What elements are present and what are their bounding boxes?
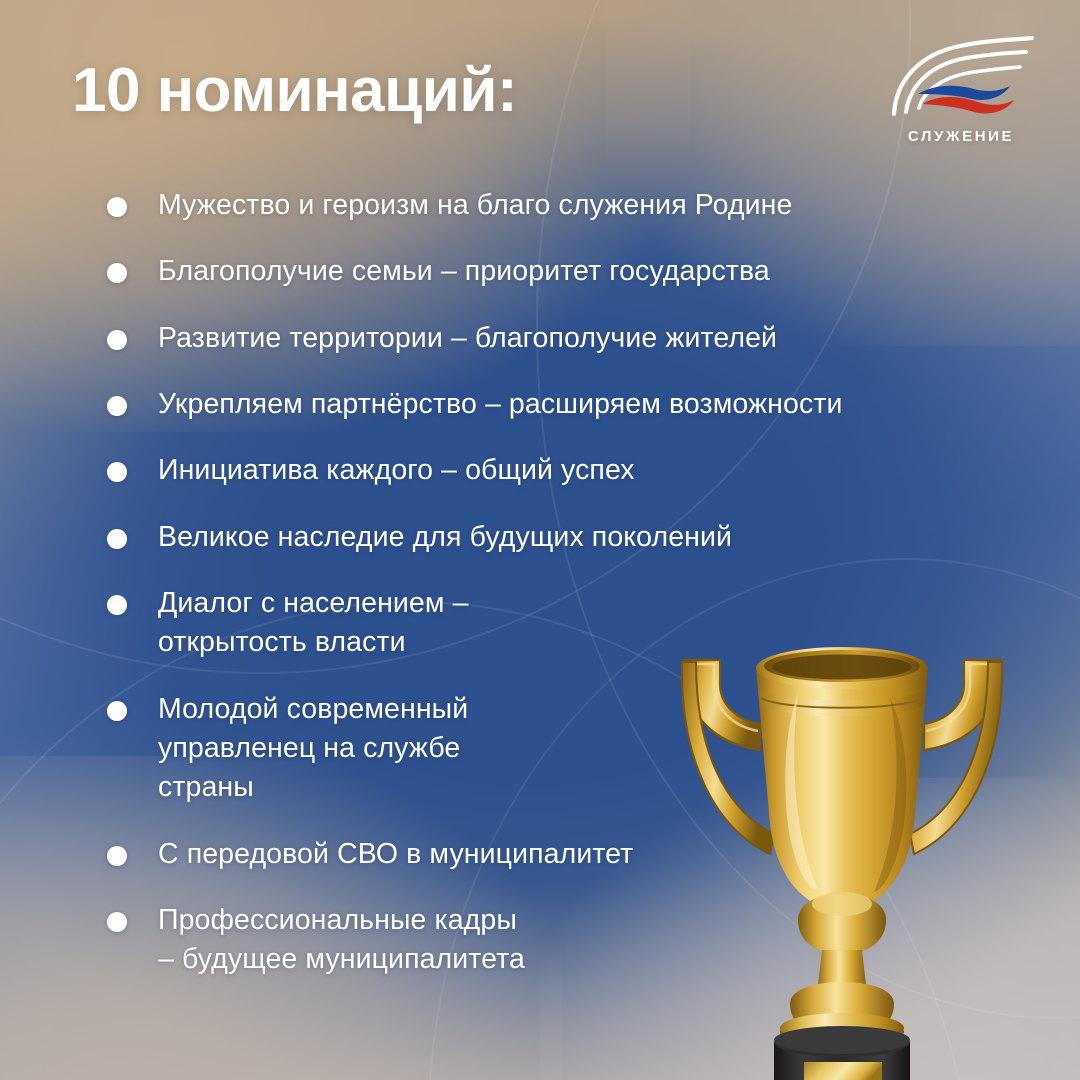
bullet-icon [107,396,127,416]
nomination-line: управленец на службе [158,729,984,768]
nomination-line: – будущее муниципалитета [158,940,984,979]
list-item: С передовой СВО в муниципалитет [104,835,984,874]
logo-wordmark: СЛУЖЕНИЕ [886,129,1036,144]
nomination-line: страны [158,768,984,807]
page-title: 10 номинаций: [72,58,517,123]
nominations-poster: 10 номинаций: СЛУЖЕНИЕ Мужество и героиз… [0,0,1080,1080]
bullet-icon [107,197,127,217]
nomination-line: Благополучие семьи – приоритет государст… [158,252,984,291]
nominations-list: Мужество и героизм на благо служения Род… [104,186,984,980]
list-item: Благополучие семьи – приоритет государст… [104,252,984,291]
nomination-line: С передовой СВО в муниципалитет [158,835,984,874]
nomination-line: Мужество и героизм на благо служения Род… [158,186,984,225]
nomination-line: Развитие территории – благополучие жител… [158,319,984,358]
bullet-icon [107,912,127,932]
nomination-line: Диалог с населением – [158,584,984,623]
sluzhenie-logo: СЛУЖЕНИЕ [886,34,1036,144]
bullet-icon [107,263,127,283]
nomination-line: Инициатива каждого – общий успех [158,451,984,490]
bullet-icon [107,330,127,350]
list-item: Профессиональные кадры – будущее муницип… [104,901,984,980]
nomination-line: Великое наследие для будущих поколений [158,518,984,557]
list-item: Укрепляем партнёрство – расширяем возмож… [104,385,984,424]
nomination-line: Профессиональные кадры [158,901,984,940]
list-item: Мужество и героизм на благо служения Род… [104,186,984,225]
nomination-line: Укрепляем партнёрство – расширяем возмож… [158,385,984,424]
list-item: Диалог с населением – открытость власти [104,584,984,663]
list-item: Молодой современный управленец на службе… [104,690,984,808]
bullet-icon [107,701,127,721]
bullet-icon [107,595,127,615]
list-item: Развитие территории – благополучие жител… [104,319,984,358]
nomination-line: Молодой современный [158,690,984,729]
bullet-icon [107,462,127,482]
list-item: Инициатива каждого – общий успех [104,451,984,490]
bullet-icon [107,846,127,866]
nomination-line: открытость власти [158,623,984,662]
bullet-icon [107,529,127,549]
list-item: Великое наследие для будущих поколений [104,518,984,557]
